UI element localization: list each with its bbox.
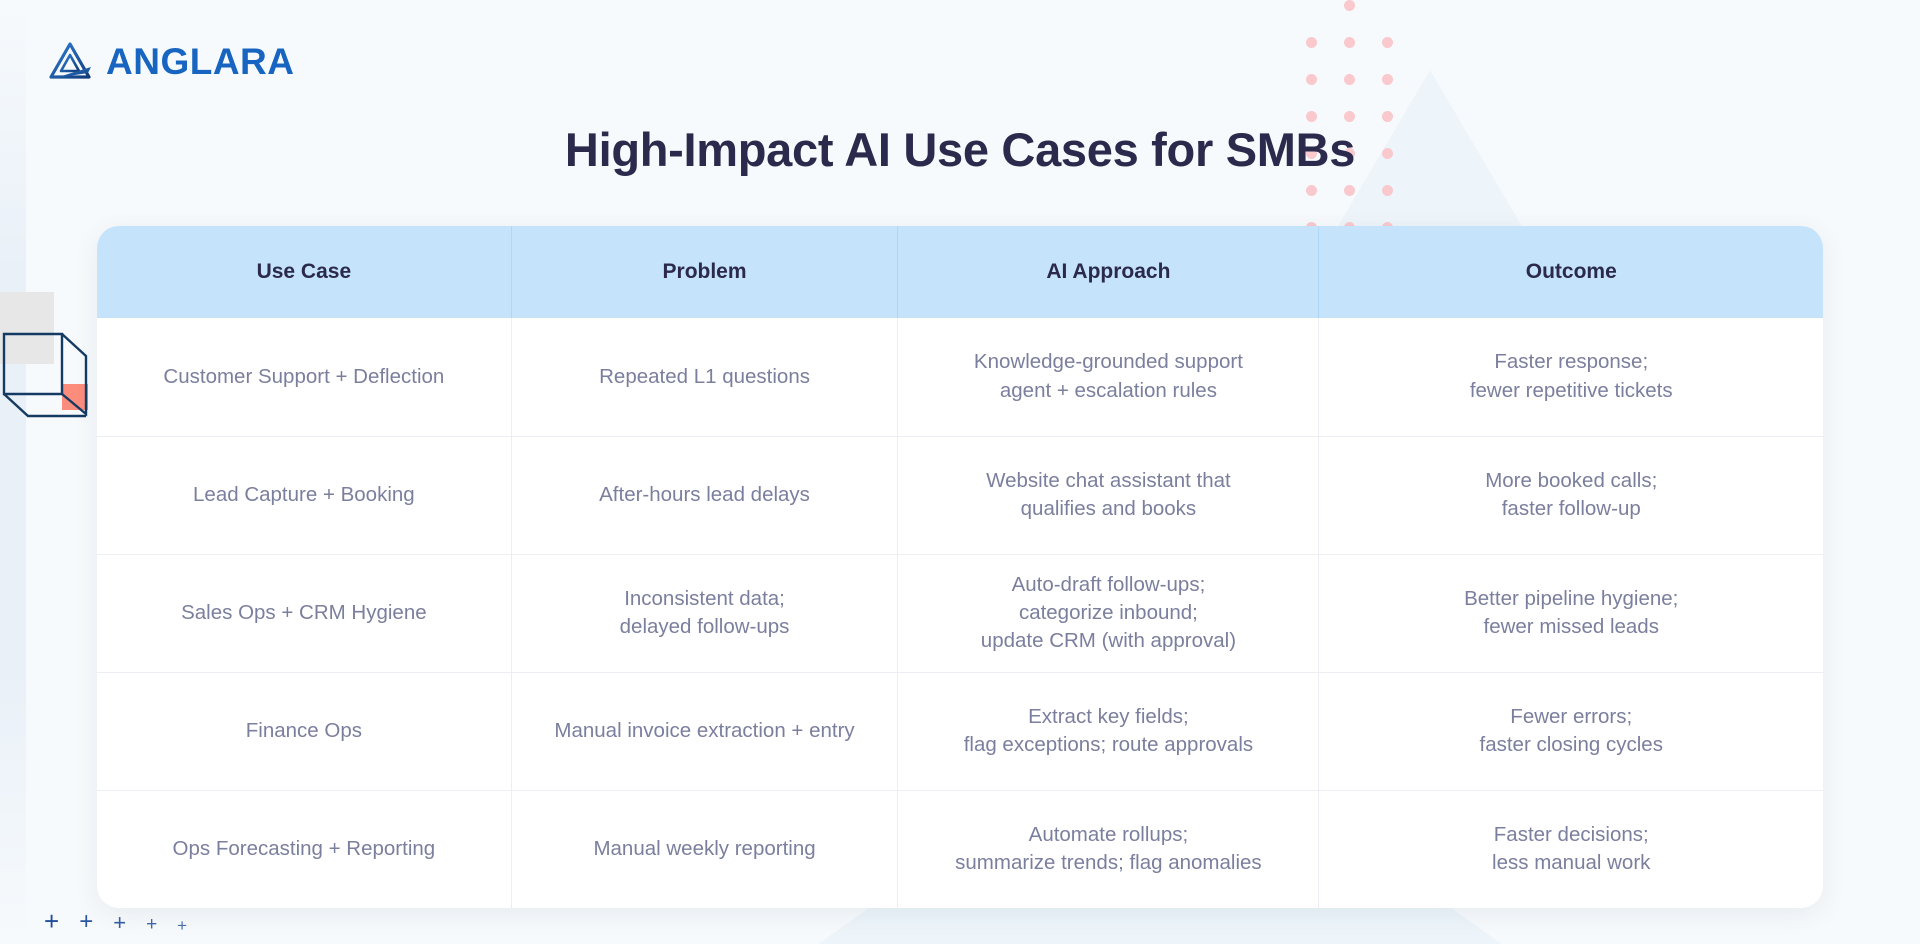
cell-text: Better pipeline hygiene;fewer missed lea… (1337, 585, 1805, 642)
cell-text-line: Faster decisions; (1337, 821, 1805, 849)
use-case-table-card: Use Case Problem AI Approach Outcome Cus… (97, 226, 1823, 908)
cell-text-line: Customer Support + Deflection (115, 363, 493, 391)
cell-ai-approach: Website chat assistant thatqualifies and… (898, 436, 1319, 554)
brand-name: ANGLARA (106, 41, 294, 83)
cell-outcome: Faster response;fewer repetitive tickets (1319, 318, 1823, 436)
plus-mark: + (177, 917, 187, 934)
table-body: Customer Support + DeflectionRepeated L1… (97, 318, 1823, 908)
grid-dot (1344, 37, 1355, 48)
cell-text-line: categorize inbound; (916, 599, 1300, 627)
cell-text-line: Extract key fields; (916, 703, 1300, 731)
cell-text: Faster decisions;less manual work (1337, 821, 1805, 878)
cell-text: Knowledge-grounded supportagent + escala… (916, 348, 1300, 405)
cell-outcome: Faster decisions;less manual work (1319, 790, 1823, 908)
cell-text: Manual weekly reporting (530, 835, 880, 863)
cell-text-line: less manual work (1337, 849, 1805, 877)
brand-logo[interactable]: ANGLARA (48, 40, 294, 84)
cell-text-line: fewer missed leads (1337, 613, 1805, 641)
cell-text-line: agent + escalation rules (916, 377, 1300, 405)
cell-text: Fewer errors;faster closing cycles (1337, 703, 1805, 760)
cell-text: Auto-draft follow-ups;categorize inbound… (916, 571, 1300, 656)
cell-text-line: Website chat assistant that (916, 467, 1300, 495)
table-row: Ops Forecasting + ReportingManual weekly… (97, 790, 1823, 908)
cell-text-line: delayed follow-ups (530, 613, 880, 641)
cell-text: Sales Ops + CRM Hygiene (115, 599, 493, 627)
cell-ai-approach: Knowledge-grounded supportagent + escala… (898, 318, 1319, 436)
column-header-problem: Problem (511, 226, 898, 318)
cell-text: Automate rollups;summarize trends; flag … (916, 821, 1300, 878)
grid-dot (1382, 185, 1393, 196)
grid-dot (1306, 111, 1317, 122)
grid-dot (1306, 74, 1317, 85)
table-row: Customer Support + DeflectionRepeated L1… (97, 318, 1823, 436)
column-header-ai-approach: AI Approach (898, 226, 1319, 318)
cell-text: Extract key fields;flag exceptions; rout… (916, 703, 1300, 760)
cell-text: More booked calls;faster follow-up (1337, 467, 1805, 524)
column-header-outcome: Outcome (1319, 226, 1823, 318)
cell-ai-approach: Automate rollups;summarize trends; flag … (898, 790, 1319, 908)
cell-text-line: Ops Forecasting + Reporting (115, 835, 493, 863)
cell-text: After-hours lead delays (530, 481, 880, 509)
cell-text: Faster response;fewer repetitive tickets (1337, 348, 1805, 405)
cell-problem: Repeated L1 questions (511, 318, 898, 436)
cell-problem: Inconsistent data;delayed follow-ups (511, 554, 898, 672)
grid-dot (1306, 185, 1317, 196)
page-title: High-Impact AI Use Cases for SMBs (0, 122, 1920, 177)
cell-text-line: Inconsistent data; (530, 585, 880, 613)
cell-use-case: Customer Support + Deflection (97, 318, 511, 436)
cell-text-line: faster closing cycles (1337, 731, 1805, 759)
cube-accent-square (62, 384, 88, 410)
cell-text-line: Better pipeline hygiene; (1337, 585, 1805, 613)
cell-text: Ops Forecasting + Reporting (115, 835, 493, 863)
triangle-delta-logo-icon (48, 40, 92, 84)
cell-text-line: Fewer errors; (1337, 703, 1805, 731)
grid-dot (1382, 37, 1393, 48)
cell-text: Manual invoice extraction + entry (530, 717, 880, 745)
cell-text-line: Automate rollups; (916, 821, 1300, 849)
table-header-row: Use Case Problem AI Approach Outcome (97, 226, 1823, 318)
cell-use-case: Lead Capture + Booking (97, 436, 511, 554)
cube-shadow-square (0, 292, 54, 364)
cell-ai-approach: Extract key fields;flag exceptions; rout… (898, 672, 1319, 790)
cell-text: Lead Capture + Booking (115, 481, 493, 509)
cell-use-case: Ops Forecasting + Reporting (97, 790, 511, 908)
grid-dot (1382, 74, 1393, 85)
plus-mark: + (146, 915, 157, 934)
plus-mark: + (79, 910, 93, 934)
cell-text-line: Finance Ops (115, 717, 493, 745)
plus-marks-icon: + + + + + (44, 908, 187, 934)
table-header: Use Case Problem AI Approach Outcome (97, 226, 1823, 318)
cell-text-line: faster follow-up (1337, 495, 1805, 523)
cell-text-line: Lead Capture + Booking (115, 481, 493, 509)
cell-text-line: qualifies and books (916, 495, 1300, 523)
grid-dot (1344, 74, 1355, 85)
cell-text-line: Manual weekly reporting (530, 835, 880, 863)
cell-problem: Manual weekly reporting (511, 790, 898, 908)
grid-dot (1344, 111, 1355, 122)
grid-dot (1344, 185, 1355, 196)
cell-text-line: Faster response; (1337, 348, 1805, 376)
cell-text: Website chat assistant thatqualifies and… (916, 467, 1300, 524)
cell-text-line: Repeated L1 questions (530, 363, 880, 391)
cell-text: Repeated L1 questions (530, 363, 880, 391)
cell-use-case: Sales Ops + CRM Hygiene (97, 554, 511, 672)
cell-use-case: Finance Ops (97, 672, 511, 790)
cell-outcome: Better pipeline hygiene;fewer missed lea… (1319, 554, 1823, 672)
cell-text-line: Auto-draft follow-ups; (916, 571, 1300, 599)
cell-text-line: fewer repetitive tickets (1337, 377, 1805, 405)
grid-dot (1306, 37, 1317, 48)
cell-text-line: After-hours lead delays (530, 481, 880, 509)
cell-ai-approach: Auto-draft follow-ups;categorize inbound… (898, 554, 1319, 672)
cell-text-line: update CRM (with approval) (916, 627, 1300, 655)
cell-text: Inconsistent data;delayed follow-ups (530, 585, 880, 642)
grid-dot (1382, 111, 1393, 122)
use-case-table: Use Case Problem AI Approach Outcome Cus… (97, 226, 1823, 908)
cell-text: Customer Support + Deflection (115, 363, 493, 391)
table-row: Sales Ops + CRM HygieneInconsistent data… (97, 554, 1823, 672)
cell-text-line: flag exceptions; route approvals (916, 731, 1300, 759)
plus-mark: + (44, 908, 59, 934)
cell-outcome: More booked calls;faster follow-up (1319, 436, 1823, 554)
table-row: Finance OpsManual invoice extraction + e… (97, 672, 1823, 790)
plus-mark: + (113, 912, 126, 934)
cell-text-line: More booked calls; (1337, 467, 1805, 495)
cell-text-line: summarize trends; flag anomalies (916, 849, 1300, 877)
cell-text: Finance Ops (115, 717, 493, 745)
grid-dot (1344, 0, 1355, 11)
cell-outcome: Fewer errors;faster closing cycles (1319, 672, 1823, 790)
table-row: Lead Capture + BookingAfter-hours lead d… (97, 436, 1823, 554)
column-header-use-case: Use Case (97, 226, 511, 318)
cell-text-line: Sales Ops + CRM Hygiene (115, 599, 493, 627)
cell-problem: Manual invoice extraction + entry (511, 672, 898, 790)
cell-problem: After-hours lead delays (511, 436, 898, 554)
cell-text-line: Manual invoice extraction + entry (530, 717, 880, 745)
cell-text-line: Knowledge-grounded support (916, 348, 1300, 376)
